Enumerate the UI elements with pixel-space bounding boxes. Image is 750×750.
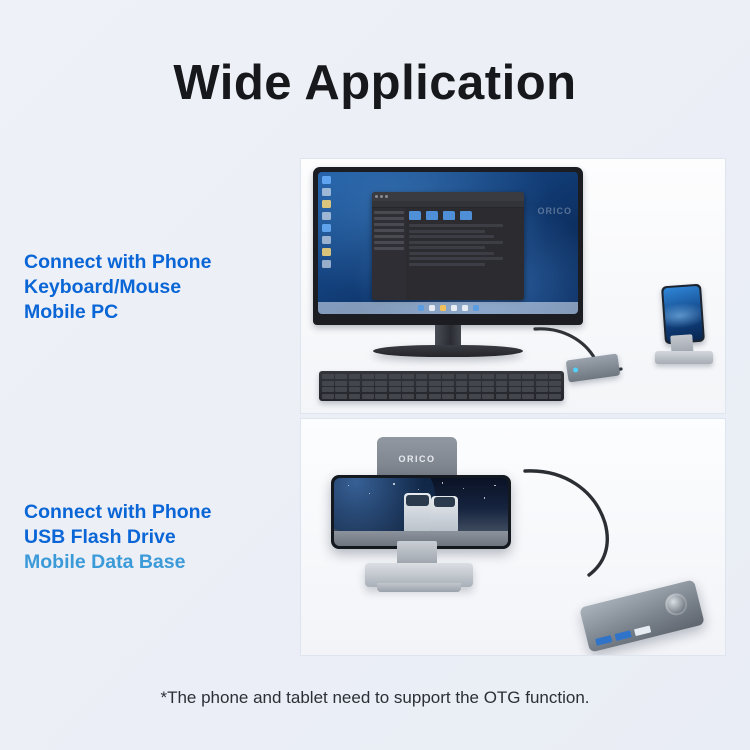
key xyxy=(509,381,521,386)
key xyxy=(375,394,387,399)
sidebar-row xyxy=(374,223,404,226)
key xyxy=(429,374,441,379)
stand-brand-label: ORICO xyxy=(398,454,435,464)
key xyxy=(469,381,481,386)
file-row xyxy=(409,241,503,244)
key xyxy=(456,387,468,392)
feature-block-2: Connect with Phone USB Flash Drive Mobil… xyxy=(24,500,314,575)
desktop-icon-browser xyxy=(322,224,331,232)
hub-dial-icon xyxy=(663,591,690,618)
usb-port xyxy=(595,635,612,646)
key xyxy=(402,387,414,392)
desktop-icon-recycle-bin xyxy=(322,176,331,184)
window-dot-icon xyxy=(375,195,378,198)
key xyxy=(416,387,428,392)
taskbar-start-icon xyxy=(418,305,424,311)
key xyxy=(429,381,441,386)
taskbar-app-icon xyxy=(451,305,457,311)
key xyxy=(375,374,387,379)
desktop-icon-doc xyxy=(322,260,331,268)
phone-landscape xyxy=(331,475,511,549)
key xyxy=(442,394,454,399)
desktop-icon-folder xyxy=(322,188,331,196)
key xyxy=(402,394,414,399)
key xyxy=(322,381,334,386)
astronaut-figure xyxy=(404,493,432,535)
key xyxy=(402,381,414,386)
screen-highlight xyxy=(663,301,703,329)
key xyxy=(375,387,387,392)
page-title: Wide Application xyxy=(0,55,750,111)
phone-screen xyxy=(334,478,508,546)
key xyxy=(442,374,454,379)
stand-base xyxy=(655,351,713,364)
sidebar-row xyxy=(374,247,404,250)
key xyxy=(349,387,361,392)
key xyxy=(335,381,347,386)
sidebar-row xyxy=(374,235,404,238)
key xyxy=(509,387,521,392)
key xyxy=(482,394,494,399)
feature-1-line-2: Keyboard/Mouse xyxy=(24,275,314,300)
key xyxy=(375,381,387,386)
folder-icon xyxy=(409,211,421,220)
key xyxy=(509,374,521,379)
monitor-stand-neck xyxy=(435,325,461,347)
feature-1-line-3: Mobile PC xyxy=(24,300,314,325)
folder-grid xyxy=(409,211,521,220)
monitor-screen: ORICO xyxy=(318,172,578,314)
key xyxy=(335,394,347,399)
folder-icon xyxy=(426,211,438,220)
key xyxy=(322,394,334,399)
key xyxy=(349,374,361,379)
key xyxy=(549,394,561,399)
key xyxy=(536,381,548,386)
file-row xyxy=(409,252,494,255)
sidebar-row xyxy=(374,211,404,214)
key xyxy=(389,387,401,392)
key xyxy=(389,381,401,386)
screen-watermark: ORICO xyxy=(537,206,572,216)
key xyxy=(362,394,374,399)
windows-taskbar xyxy=(318,302,578,314)
key xyxy=(349,394,361,399)
explorer-content xyxy=(406,208,524,300)
explorer-body xyxy=(372,208,524,300)
file-row xyxy=(409,230,485,233)
photo-card-phone-stand-scene: ORICO xyxy=(300,418,726,656)
usb-c-cable xyxy=(519,465,639,585)
sidebar-row xyxy=(374,217,404,220)
phone-screen xyxy=(663,286,703,342)
usb-port xyxy=(615,630,632,641)
key xyxy=(416,394,428,399)
explorer-toolbar xyxy=(372,201,524,208)
folder-icon xyxy=(460,211,472,220)
monitor-chin xyxy=(313,314,583,325)
key xyxy=(335,387,347,392)
feature-2-line-1: Connect with Phone xyxy=(24,500,314,525)
key xyxy=(362,387,374,392)
key xyxy=(496,374,508,379)
astronaut-figure xyxy=(431,496,457,534)
key xyxy=(536,374,548,379)
key xyxy=(349,381,361,386)
astronaut-helmet xyxy=(406,495,428,506)
key xyxy=(522,374,534,379)
key xyxy=(496,387,508,392)
feature-2-line-3: Mobile Data Base xyxy=(24,550,314,575)
key xyxy=(442,381,454,386)
key xyxy=(335,374,347,379)
key xyxy=(549,387,561,392)
key xyxy=(456,381,468,386)
feature-1-line-1: Connect with Phone xyxy=(24,250,314,275)
key xyxy=(389,374,401,379)
file-row xyxy=(409,263,485,266)
file-row xyxy=(409,224,503,227)
key xyxy=(469,394,481,399)
desktop-icons xyxy=(322,176,331,268)
taskbar-app-icon xyxy=(462,305,468,311)
key xyxy=(416,374,428,379)
file-row xyxy=(409,257,503,260)
file-explorer-window xyxy=(372,192,524,300)
key xyxy=(482,387,494,392)
key xyxy=(509,394,521,399)
photo-card-monitor-scene: ORICO xyxy=(300,158,726,414)
key xyxy=(549,381,561,386)
explorer-sidebar xyxy=(372,208,406,300)
key xyxy=(456,374,468,379)
stand-foot xyxy=(377,583,461,592)
desktop-icon-app xyxy=(322,212,331,220)
keyboard-row xyxy=(322,381,561,386)
hub-led-icon xyxy=(573,367,579,373)
feature-2-line-2: USB Flash Drive xyxy=(24,525,314,550)
key xyxy=(429,394,441,399)
footnote: *The phone and tablet need to support th… xyxy=(0,688,750,708)
keyboard xyxy=(319,371,564,401)
key xyxy=(429,387,441,392)
key xyxy=(549,374,561,379)
taskbar-search-icon xyxy=(429,305,435,311)
keyboard-row xyxy=(322,374,561,379)
key xyxy=(482,381,494,386)
key xyxy=(362,374,374,379)
key xyxy=(456,394,468,399)
desktop-icon-image xyxy=(322,248,331,256)
keyboard-row xyxy=(322,394,561,399)
window-dot-icon xyxy=(385,195,388,198)
key xyxy=(496,381,508,386)
sidebar-row xyxy=(374,241,404,244)
key xyxy=(442,387,454,392)
desktop-icon-shortcut xyxy=(322,236,331,244)
window-dot-icon xyxy=(380,195,383,198)
key xyxy=(402,374,414,379)
keyboard-row xyxy=(322,387,561,392)
key xyxy=(322,387,334,392)
key xyxy=(416,381,428,386)
explorer-titlebar xyxy=(372,192,524,201)
astronaut-helmet xyxy=(434,497,455,507)
taskbar-app-icon xyxy=(473,305,479,311)
key xyxy=(469,374,481,379)
key xyxy=(536,394,548,399)
file-row xyxy=(409,246,485,249)
key xyxy=(536,387,548,392)
key xyxy=(522,387,534,392)
desktop-icon-file xyxy=(322,200,331,208)
taskbar-explorer-icon xyxy=(440,305,446,311)
key xyxy=(469,387,481,392)
folder-icon xyxy=(443,211,455,220)
feature-block-1: Connect with Phone Keyboard/Mouse Mobile… xyxy=(24,250,314,325)
key xyxy=(322,374,334,379)
sidebar-row xyxy=(374,229,404,232)
key xyxy=(482,374,494,379)
phone-stand-assembly: ORICO xyxy=(325,437,525,617)
hub-ports xyxy=(595,625,651,645)
key xyxy=(389,394,401,399)
file-list xyxy=(409,224,521,266)
key xyxy=(522,394,534,399)
key xyxy=(496,394,508,399)
monitor-bezel: ORICO xyxy=(313,167,583,325)
usb-c-hub xyxy=(579,579,705,652)
phone-on-stand xyxy=(647,279,719,369)
usb-flash-drive xyxy=(634,625,651,636)
key xyxy=(522,381,534,386)
key xyxy=(362,381,374,386)
file-row xyxy=(409,235,494,238)
monitor-stand-base xyxy=(373,345,523,357)
